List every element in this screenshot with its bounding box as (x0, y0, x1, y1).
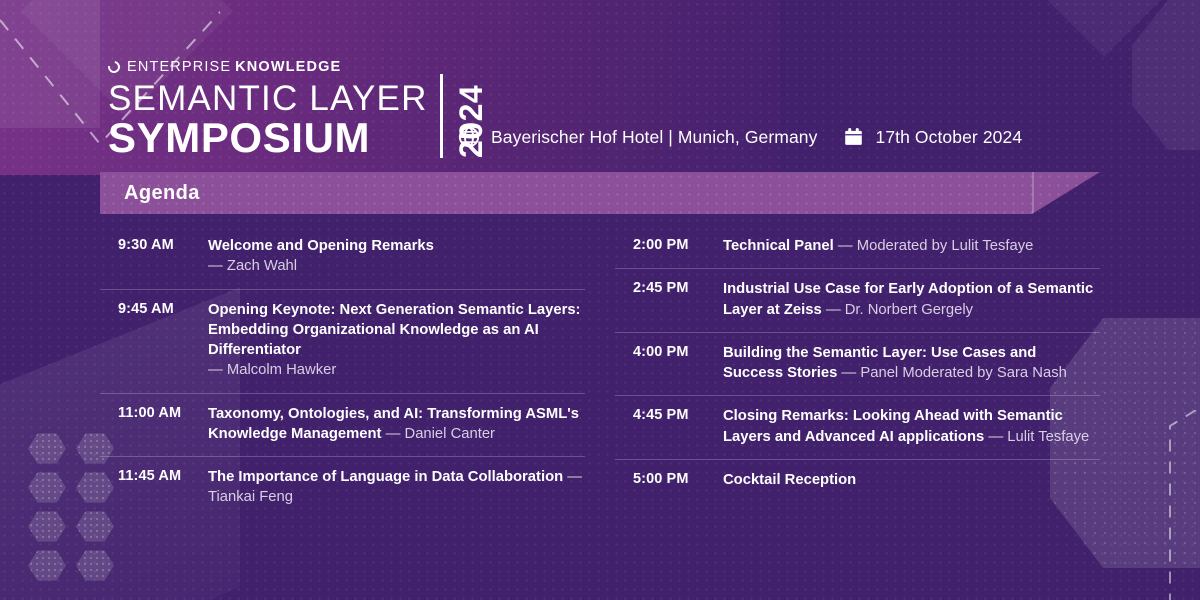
agenda-item-speaker: — Dr. Norbert Gergely (822, 302, 973, 318)
hexagon-slab-top-right (1132, 0, 1200, 150)
globe-icon (458, 126, 480, 148)
brand-eyebrow: ENTERPRISE KNOWLEDGE (108, 60, 428, 75)
agenda-item-speaker: — Malcolm Hawker (208, 360, 585, 380)
agenda-item: 5:00 PMCocktail Reception (615, 460, 1100, 502)
agenda-item-time: 11:45 AM (118, 467, 194, 508)
date-meta: 17th October 2024 (843, 126, 1022, 148)
agenda-item: 2:00 PMTechnical Panel — Moderated by Lu… (615, 226, 1100, 269)
agenda-item-speaker: — Daniel Canter (381, 426, 495, 442)
agenda-item-time: 4:45 PM (633, 406, 709, 447)
agenda-item-title: Technical Panel (723, 238, 834, 254)
left-accent-band (0, 0, 100, 128)
agenda-column-right: 2:00 PMTechnical Panel — Moderated by Lu… (615, 226, 1100, 520)
event-title-line-1: SEMANTIC LAYER (108, 81, 428, 117)
hexagon-cell (28, 471, 66, 504)
agenda-item-time: 4:00 PM (633, 343, 709, 384)
agenda-item-body: Opening Keynote: Next Generation Semanti… (208, 300, 585, 381)
agenda-column-left: 9:30 AMWelcome and Opening Remarks— Zach… (100, 226, 585, 520)
agenda-item-time: 2:00 PM (633, 236, 709, 256)
agenda-item-body: Technical Panel — Moderated by Lulit Tes… (723, 236, 1033, 256)
agenda-item-body: Welcome and Opening Remarks— Zach Wahl (208, 236, 434, 277)
agenda-item-time: 5:00 PM (633, 470, 709, 490)
dashed-line-right (1110, 410, 1200, 600)
agenda-item: 2:45 PMIndustrial Use Case for Early Ado… (615, 269, 1100, 333)
symposium-agenda-poster: ENTERPRISE KNOWLEDGE SEMANTIC LAYER SYMP… (0, 0, 1200, 600)
agenda-item-time: 9:30 AM (118, 236, 194, 277)
agenda-item: 4:00 PMBuilding the Semantic Layer: Use … (615, 333, 1100, 397)
event-logo-text: ENTERPRISE KNOWLEDGE SEMANTIC LAYER SYMP… (108, 60, 428, 160)
agenda-item-title: The Importance of Language in Data Colla… (208, 469, 563, 485)
hexagon-cell (76, 549, 114, 582)
agenda-item-speaker: — Lulit Tesfaye (984, 429, 1089, 445)
agenda-item-time: 2:45 PM (633, 279, 709, 320)
date-label: 17th October 2024 (875, 127, 1022, 148)
hexagon-cell (28, 510, 66, 543)
agenda-item-speaker: — Zach Wahl (208, 256, 434, 276)
event-meta-row: Bayerischer Hof Hotel | Munich, Germany … (458, 126, 1022, 148)
venue-meta: Bayerischer Hof Hotel | Munich, Germany (458, 126, 817, 148)
agenda-heading: Agenda (100, 172, 1100, 214)
chevron-top-right-shape (1019, 0, 1189, 57)
agenda-item-body: Cocktail Reception (723, 470, 856, 490)
agenda-item-time: 9:45 AM (118, 300, 194, 381)
agenda-item: 9:30 AMWelcome and Opening Remarks— Zach… (100, 226, 585, 290)
brand-eyebrow-bold: KNOWLEDGE (235, 60, 341, 75)
agenda-item: 9:45 AMOpening Keynote: Next Generation … (100, 290, 585, 394)
agenda-item-body: Industrial Use Case for Early Adoption o… (723, 279, 1100, 320)
agenda-item-time: 11:00 AM (118, 404, 194, 445)
agenda-item-title: Opening Keynote: Next Generation Semanti… (208, 302, 580, 359)
agenda-item-title: Welcome and Opening Remarks (208, 238, 434, 254)
agenda-item-body: Building the Semantic Layer: Use Cases a… (723, 343, 1100, 384)
hexagon-cell (28, 549, 66, 582)
event-title-line-2: SYMPOSIUM (108, 117, 428, 160)
agenda-item-body: Closing Remarks: Looking Ahead with Sema… (723, 406, 1100, 447)
event-logo-lockup: ENTERPRISE KNOWLEDGE SEMANTIC LAYER SYMP… (108, 60, 487, 160)
agenda-item-speaker: — Moderated by Lulit Tesfaye (834, 238, 1034, 254)
hexagon-cell (28, 432, 66, 465)
agenda-header-bar: Agenda (100, 172, 1100, 214)
agenda-item: 11:00 AMTaxonomy, Ontologies, and AI: Tr… (100, 394, 585, 458)
agenda-item-body: The Importance of Language in Data Colla… (208, 467, 585, 508)
brand-eyebrow-regular: ENTERPRISE (127, 60, 231, 75)
agenda-item-title: Cocktail Reception (723, 472, 856, 488)
agenda-item: 11:45 AMThe Importance of Language in Da… (100, 457, 585, 520)
logo-divider-rule (440, 74, 443, 158)
calendar-icon (843, 126, 864, 148)
agenda-columns: 9:30 AMWelcome and Opening Remarks— Zach… (100, 226, 1100, 520)
agenda-item-body: Taxonomy, Ontologies, and AI: Transformi… (208, 404, 585, 445)
agenda-item: 4:45 PMClosing Remarks: Looking Ahead wi… (615, 396, 1100, 460)
venue-label: Bayerischer Hof Hotel | Munich, Germany (491, 127, 817, 148)
agenda-item-speaker: — Panel Moderated by Sara Nash (837, 365, 1066, 381)
ek-ring-icon (106, 59, 123, 76)
